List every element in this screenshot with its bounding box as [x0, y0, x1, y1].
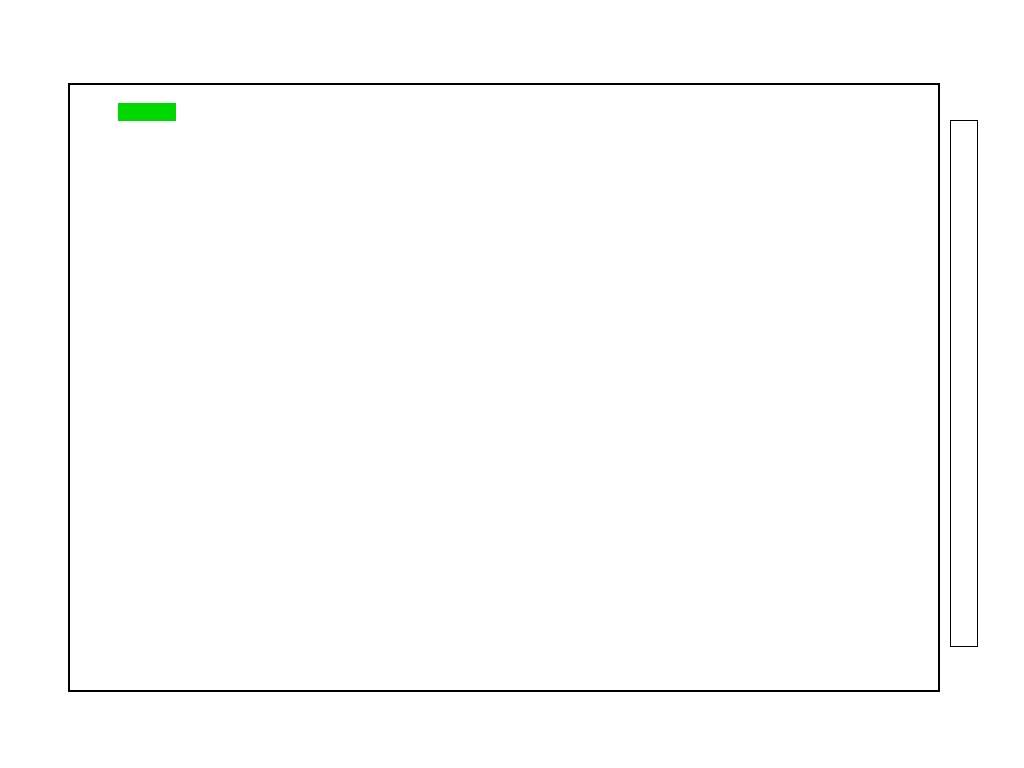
x-axis: [0, 0, 1024, 768]
colorbar: [950, 75, 980, 695]
colorbar-body: [950, 120, 978, 647]
